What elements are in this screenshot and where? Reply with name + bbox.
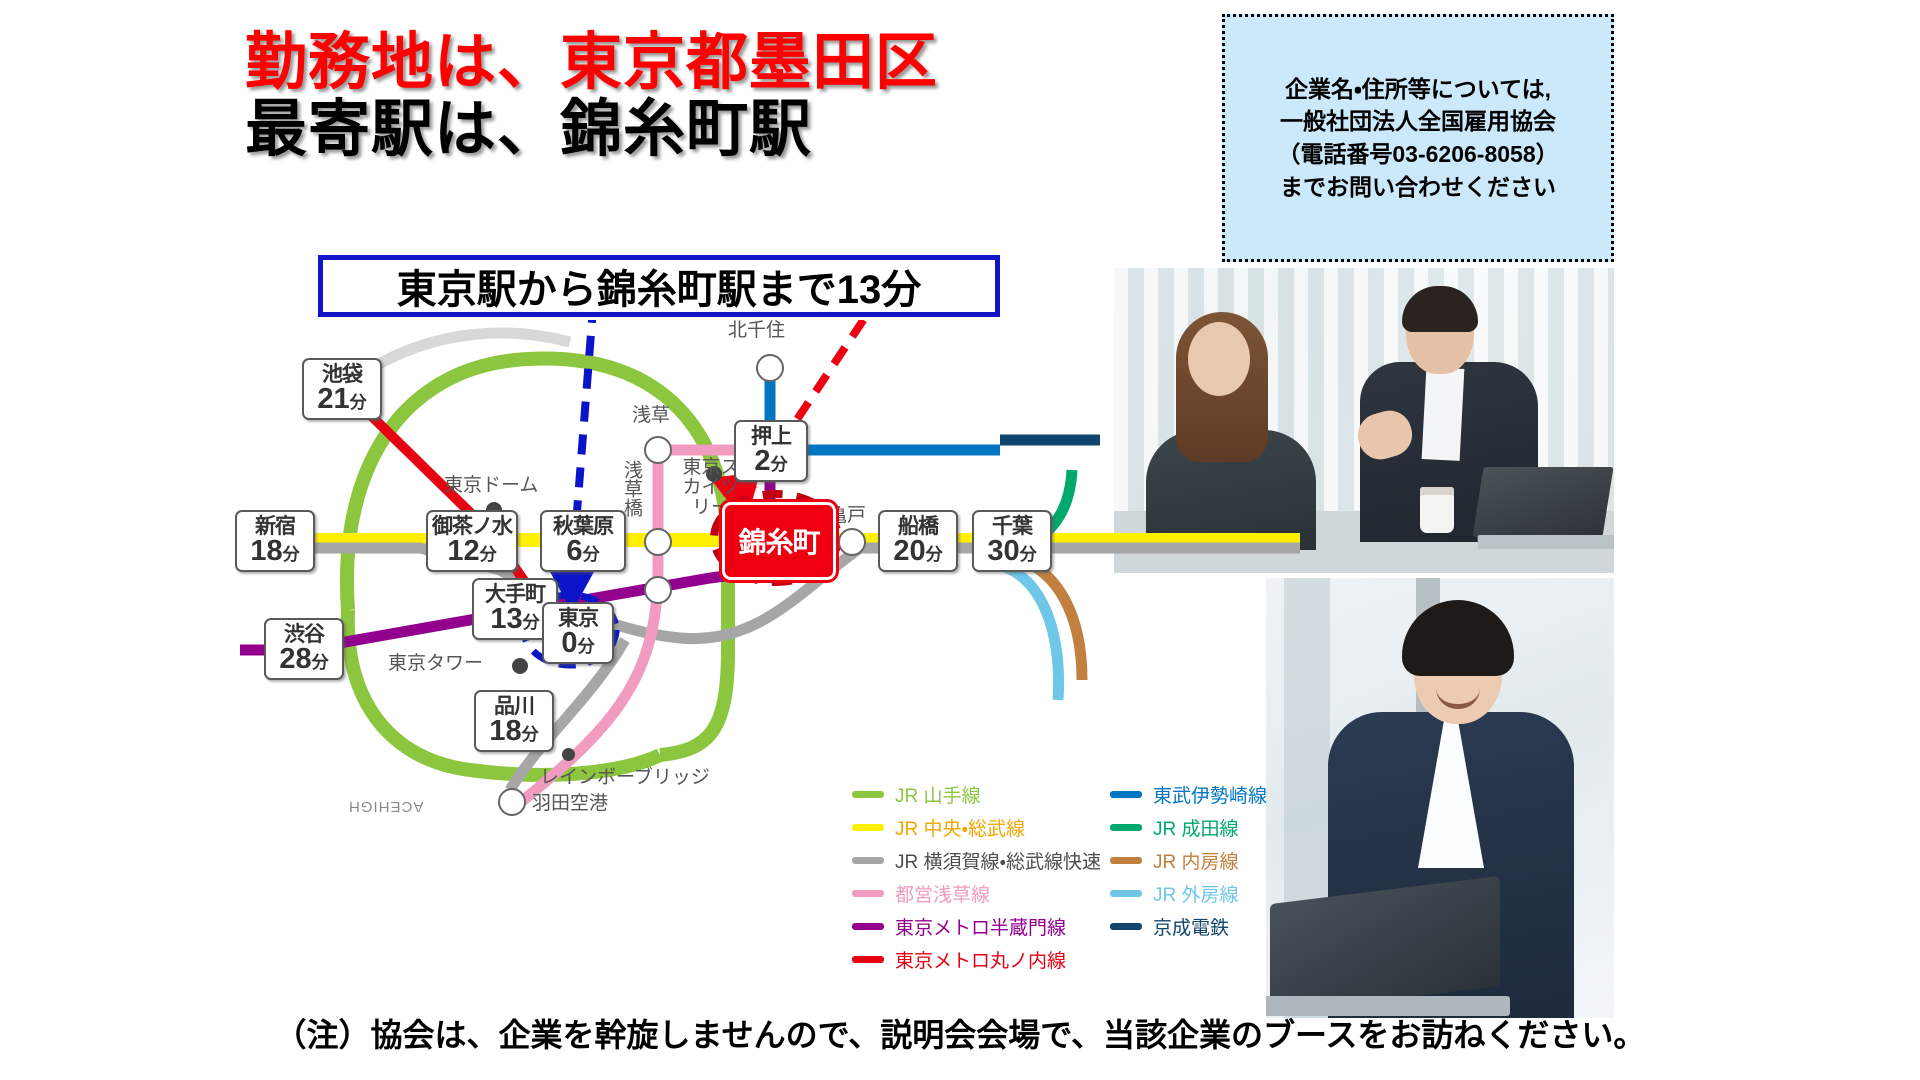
legend-label: 東京メトロ半蔵門線 — [895, 913, 1066, 940]
station-name: 東京 — [558, 608, 598, 629]
legend-label: JR 山手線 — [895, 781, 981, 808]
travel-time-banner: 東京駅から錦糸町駅まで13分 — [318, 255, 1000, 317]
legend-label: 都営浅草線 — [895, 880, 990, 907]
node-haneda-airport — [498, 788, 526, 816]
landmark-dot-tokyo-tower — [512, 658, 528, 674]
station-minutes: 0分 — [561, 629, 594, 658]
station-tokyo[interactable]: 東京 0分 — [542, 602, 614, 664]
label-tokyo-tower: 東京タワー — [388, 648, 483, 675]
legend-item-metro-hanzomon: 東京メトロ半蔵門線 — [852, 910, 1101, 943]
slide-canvas: 勤務地は、東京都墨田区 最寄駅は、錦糸町駅 東京駅から錦糸町駅まで13分 企業名… — [0, 0, 1920, 1080]
station-shinagawa[interactable]: 品川 18分 — [474, 690, 554, 752]
legend-swatch — [852, 956, 884, 963]
legend-item-jr-narita: JR 成田線 — [1110, 811, 1267, 844]
station-name: 渋谷 — [284, 624, 324, 645]
station-name: 新宿 — [255, 516, 295, 537]
station-name: 押上 — [751, 426, 791, 447]
contact-info-line-1: 企業名・住所等については, — [1285, 73, 1551, 106]
station-minutes: 18分 — [250, 537, 299, 566]
station-chiba[interactable]: 千葉 30分 — [972, 510, 1052, 572]
station-name: 錦糸町 — [738, 521, 819, 561]
station-name: 池袋 — [322, 364, 362, 385]
station-ikebukuro[interactable]: 池袋 21分 — [302, 358, 382, 420]
station-kinshicho-highlight[interactable]: 錦糸町 — [722, 502, 836, 580]
contact-info-line-4: までお問い合わせください — [1280, 171, 1556, 204]
node-asakusa — [644, 436, 672, 464]
coffee-cup — [1420, 487, 1454, 533]
legend-swatch — [1110, 890, 1142, 897]
station-name: 大手町 — [485, 584, 545, 605]
contact-info-box: 企業名・住所等については, 一般社団法人全国雇用協会 （電話番号03-6206-… — [1222, 14, 1614, 262]
legend-swatch — [852, 824, 884, 831]
dress-shirt — [1422, 367, 1465, 461]
footer-note-text: （注）協会は、企業を幹旋しませんので、説明会会場で、当該企業のブースをお訪ねくだ… — [275, 1017, 1646, 1053]
station-minutes: 12分 — [447, 537, 496, 566]
node-akihabara-junction — [644, 528, 672, 556]
label-rainbow-bridge: レインボーブリッジ — [540, 762, 710, 789]
contact-info-line-3: （電話番号03-6206-8058） — [1277, 138, 1558, 171]
station-name: 千葉 — [992, 516, 1032, 537]
legend-label: 東京メトロ丸ノ内線 — [895, 946, 1066, 973]
legend-column-2: 東武伊勢崎線 JR 成田線 JR 内房線 JR 外房線 京成電鉄 — [1110, 778, 1267, 943]
headline-line-1: 勤務地は、東京都墨田区 — [245, 30, 938, 97]
station-name: 御茶ノ水 — [432, 516, 512, 537]
watermark-acehigh: ACEHIGH — [348, 798, 423, 815]
legend-item-jr-yokosuka-sobu-rapid: JR 横須賀線・総武線快速 — [852, 844, 1101, 877]
station-minutes: 28分 — [279, 645, 328, 674]
landmark-dot-rainbow-bridge — [562, 748, 575, 761]
legend-swatch — [852, 890, 884, 897]
station-name: 秋葉原 — [553, 516, 613, 537]
node-kita-senju — [756, 354, 784, 382]
station-name: 船橋 — [898, 516, 938, 537]
legend-swatch — [852, 923, 884, 930]
legend-label: JR 成田線 — [1153, 814, 1239, 841]
node-kameido — [838, 528, 866, 556]
headline-line-2: 最寄駅は、錦糸町駅 — [245, 97, 938, 164]
legend-swatch — [1110, 824, 1142, 831]
legend-item-jr-chuo-sobu: JR 中央・総武線 — [852, 811, 1101, 844]
station-minutes: 13分 — [490, 605, 539, 634]
station-akihabara[interactable]: 秋葉原 6分 — [540, 510, 626, 572]
station-minutes: 20分 — [893, 537, 942, 566]
label-asakusa: 浅草 — [632, 400, 670, 427]
legend-label: JR 横須賀線・総武線快速 — [895, 847, 1101, 874]
footer-note: （注）協会は、企業を幹旋しませんので、説明会会場で、当該企業のブースをお訪ねくだ… — [0, 1010, 1920, 1056]
legend-label: JR 外房線 — [1153, 880, 1239, 907]
label-haneda-airport: 羽田空港 — [532, 788, 608, 815]
station-minutes: 18分 — [489, 717, 538, 746]
legend-swatch — [852, 791, 884, 798]
station-minutes: 6分 — [566, 537, 599, 566]
station-name: 品川 — [494, 696, 534, 717]
photo-man-with-laptop — [1266, 578, 1614, 1018]
legend-swatch — [1110, 791, 1142, 798]
legend-item-metro-marunouchi: 東京メトロ丸ノ内線 — [852, 943, 1101, 976]
station-funabashi[interactable]: 船橋 20分 — [878, 510, 958, 572]
station-minutes: 2分 — [754, 447, 787, 476]
label-kita-senju: 北千住 — [728, 315, 785, 342]
station-shinjuku[interactable]: 新宿 18分 — [235, 510, 315, 572]
travel-time-banner-text: 東京駅から錦糸町駅まで13分 — [397, 257, 922, 315]
station-ochanomizu[interactable]: 御茶ノ水 12分 — [426, 510, 518, 572]
legend-item-keisei: 京成電鉄 — [1110, 910, 1267, 943]
legend-label: 東武伊勢崎線 — [1153, 781, 1267, 808]
label-tokyo-dome: 東京ドーム — [444, 470, 538, 497]
hair — [1402, 286, 1478, 332]
station-minutes: 30分 — [987, 537, 1036, 566]
legend-item-toei-asakusa: 都営浅草線 — [852, 877, 1101, 910]
legend-label: JR 内房線 — [1153, 847, 1239, 874]
legend-item-jr-yamanote: JR 山手線 — [852, 778, 1101, 811]
hair — [1402, 600, 1514, 676]
page-title: 勤務地は、東京都墨田区 最寄駅は、錦糸町駅 — [245, 30, 938, 164]
legend-label: JR 中央・総武線 — [895, 814, 1025, 841]
contact-info-line-2: 一般社団法人全国雇用協会 — [1280, 105, 1556, 138]
legend-swatch — [1110, 923, 1142, 930]
station-oshiage[interactable]: 押上 2分 — [734, 420, 808, 482]
legend-item-jr-sotobo: JR 外房線 — [1110, 877, 1267, 910]
legend-item-jr-uchibo: JR 内房線 — [1110, 844, 1267, 877]
legend-item-tobu-isesaki: 東武伊勢崎線 — [1110, 778, 1267, 811]
laptop-computer — [1472, 467, 1613, 537]
node-asakusabashi — [644, 576, 672, 604]
station-shibuya[interactable]: 渋谷 28分 — [264, 618, 344, 680]
station-minutes: 21分 — [317, 385, 366, 414]
legend-swatch — [852, 857, 884, 864]
legend-column-1: JR 山手線 JR 中央・総武線 JR 横須賀線・総武線快速 都営浅草線 東京メ… — [852, 778, 1101, 976]
legend-swatch — [1110, 857, 1142, 864]
legend-label: 京成電鉄 — [1153, 913, 1229, 940]
